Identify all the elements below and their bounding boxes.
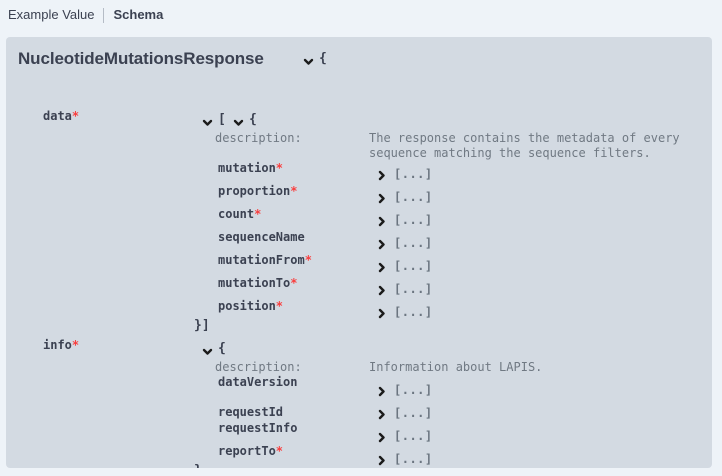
chevron-right-icon-mutation[interactable] bbox=[376, 170, 387, 181]
required-marker: * bbox=[305, 253, 312, 267]
collapsed-value-mutationTo[interactable]: [...] bbox=[394, 282, 433, 296]
collapsed-value-position[interactable]: [...] bbox=[394, 305, 433, 319]
property-name-info: info* bbox=[43, 338, 79, 352]
collapsed-value-requestInfo[interactable]: [...] bbox=[394, 429, 433, 443]
model-title: NucleotideMutationsResponse bbox=[18, 49, 264, 69]
required-marker: * bbox=[276, 161, 283, 175]
required-marker: * bbox=[276, 299, 283, 313]
schema-panel: NucleotideMutationsResponse { data* [ { … bbox=[6, 37, 712, 468]
collapsed-value-dataVersion[interactable]: [...] bbox=[394, 383, 433, 397]
chevron-down-icon-data-array[interactable] bbox=[202, 117, 213, 128]
property-name-position: position* bbox=[218, 299, 283, 313]
required-marker: * bbox=[290, 276, 297, 290]
collapsed-value-requestId[interactable]: [...] bbox=[394, 406, 433, 420]
data-description-key: description: bbox=[215, 131, 302, 145]
data-array-close: }] bbox=[194, 318, 210, 333]
property-name-reportTo: reportTo* bbox=[218, 444, 283, 458]
data-description-value: The response contains the metadata of ev… bbox=[369, 131, 680, 161]
chevron-right-icon-requestId[interactable] bbox=[376, 409, 387, 420]
property-name-requestId: requestId bbox=[218, 405, 283, 419]
property-name-proportion: proportion* bbox=[218, 184, 297, 198]
property-name-data: data* bbox=[43, 109, 79, 123]
schema-tree: NucleotideMutationsResponse { data* [ { … bbox=[6, 37, 712, 468]
property-name-mutationFrom: mutationFrom* bbox=[218, 253, 312, 267]
chevron-right-icon-requestInfo[interactable] bbox=[376, 432, 387, 443]
property-name-requestInfo: requestInfo bbox=[218, 421, 297, 435]
info-object-close: } bbox=[194, 463, 202, 468]
chevron-right-icon-mutationFrom[interactable] bbox=[376, 262, 387, 273]
chevron-right-icon-position[interactable] bbox=[376, 308, 387, 319]
data-object-open-brace: { bbox=[249, 112, 257, 127]
tab-example-value[interactable]: Example Value bbox=[8, 7, 94, 23]
chevron-right-icon-count[interactable] bbox=[376, 216, 387, 227]
data-array-open-bracket: [ bbox=[218, 112, 226, 127]
chevron-down-icon-info-object[interactable] bbox=[202, 346, 213, 357]
chevron-right-icon-sequenceName[interactable] bbox=[376, 239, 387, 250]
model-open-brace: { bbox=[319, 51, 327, 66]
chevron-right-icon-reportTo[interactable] bbox=[376, 455, 387, 466]
chevron-down-icon-data-object[interactable] bbox=[233, 117, 244, 128]
required-marker: * bbox=[72, 338, 79, 352]
collapsed-value-proportion[interactable]: [...] bbox=[394, 190, 433, 204]
chevron-down-icon-model[interactable] bbox=[303, 56, 314, 67]
chevron-right-icon-proportion[interactable] bbox=[376, 193, 387, 204]
required-marker: * bbox=[72, 109, 79, 123]
required-marker: * bbox=[254, 207, 261, 221]
property-name-mutationTo: mutationTo* bbox=[218, 276, 297, 290]
property-name-mutation: mutation* bbox=[218, 161, 283, 175]
property-name-sequenceName: sequenceName bbox=[218, 230, 305, 244]
tab-separator bbox=[103, 8, 104, 23]
schema-tabbar: Example Value Schema bbox=[0, 0, 722, 30]
collapsed-value-mutation[interactable]: [...] bbox=[394, 167, 433, 181]
chevron-right-icon-dataVersion[interactable] bbox=[376, 386, 387, 397]
property-name-count: count* bbox=[218, 207, 261, 221]
info-description-key: description: bbox=[215, 360, 302, 374]
tab-schema[interactable]: Schema bbox=[113, 7, 163, 23]
info-description-value: Information about LAPIS. bbox=[369, 360, 542, 375]
collapsed-value-sequenceName[interactable]: [...] bbox=[394, 236, 433, 250]
property-name-dataVersion: dataVersion bbox=[218, 375, 297, 389]
collapsed-value-reportTo[interactable]: [...] bbox=[394, 452, 433, 466]
collapsed-value-count[interactable]: [...] bbox=[394, 213, 433, 227]
collapsed-value-mutationFrom[interactable]: [...] bbox=[394, 259, 433, 273]
info-object-open-brace: { bbox=[218, 341, 226, 356]
chevron-right-icon-mutationTo[interactable] bbox=[376, 285, 387, 296]
required-marker: * bbox=[276, 444, 283, 458]
required-marker: * bbox=[290, 184, 297, 198]
